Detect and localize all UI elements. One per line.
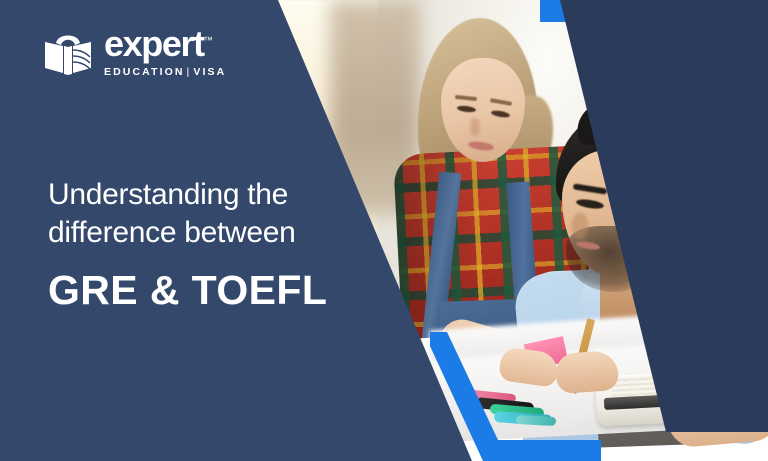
logo-tagline-divider: | xyxy=(187,66,192,78)
banner-graphic: expert™ EDUCATION|VISA Understanding the… xyxy=(0,0,768,461)
logo-wordmark: expert™ xyxy=(104,26,226,62)
headline-line-1: Understanding the xyxy=(48,176,378,214)
logo-trademark: ™ xyxy=(204,35,213,45)
open-book-icon xyxy=(42,28,94,76)
headline-block: Understanding the difference between GRE… xyxy=(48,176,378,312)
logo-tagline-education: EDUCATION xyxy=(104,66,185,78)
logo-tagline: EDUCATION|VISA xyxy=(104,67,226,78)
headline-line-2: difference between xyxy=(48,214,378,252)
man-nose xyxy=(572,213,588,239)
brand-logo[interactable]: expert™ EDUCATION|VISA xyxy=(42,26,226,78)
logo-wordmark-text: expert xyxy=(104,23,204,64)
man-hand-left xyxy=(555,350,620,394)
woman-nose xyxy=(470,118,480,136)
logo-wordmark-group: expert™ EDUCATION|VISA xyxy=(104,26,226,78)
headline-emphasis: GRE & TOEFL xyxy=(48,269,378,312)
logo-tagline-visa: VISA xyxy=(193,66,226,78)
